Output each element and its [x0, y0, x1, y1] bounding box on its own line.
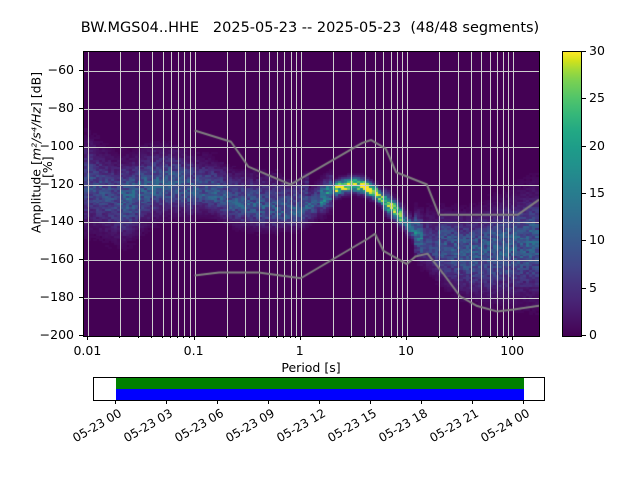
x-tick-minor	[283, 336, 284, 338]
y-tick-label: −200	[0, 327, 74, 342]
colorbar-tick-label: 15	[589, 185, 605, 200]
x-tick-minor	[119, 336, 120, 338]
x-tick-minor	[162, 336, 163, 338]
x-tick-mark	[406, 336, 407, 340]
timeline-tick-mark	[523, 400, 524, 404]
x-axis-label: Period [s]	[83, 360, 539, 375]
page-title: BW.MGS04..HHE 2025-05-23 -- 2025-05-23 (…	[0, 20, 620, 36]
colorbar-tick-label: 25	[589, 90, 605, 105]
timeline-tick-mark	[370, 400, 371, 404]
y-tick-mark	[79, 297, 83, 298]
y-tick-mark	[79, 184, 83, 185]
x-tick-minor	[290, 336, 291, 338]
timeline-tick-label: 05-24 00	[471, 406, 532, 449]
timeline-tick-label: 05-23 18	[369, 406, 430, 449]
x-tick-label: 0.01	[47, 343, 127, 358]
timeline-tick-mark	[268, 400, 269, 404]
timeline-tick-mark	[115, 400, 116, 404]
timeline-tick-label: 05-23 12	[267, 406, 328, 449]
x-tick-minor	[438, 336, 439, 338]
colorbar-gradient	[563, 52, 581, 336]
x-tick-minor	[138, 336, 139, 338]
ppsd-heatmap	[84, 52, 539, 336]
x-tick-minor	[507, 336, 508, 338]
y-tick-mark	[79, 70, 83, 71]
timeline-axes[interactable]	[93, 377, 545, 401]
colorbar-tick-mark	[582, 240, 586, 241]
x-tick-minor	[401, 336, 402, 338]
colorbar-tick-mark	[582, 98, 586, 99]
colorbar-tick-label: 10	[589, 232, 605, 247]
timeline-tick-label: 05-23 03	[114, 406, 175, 449]
x-tick-mark	[87, 336, 88, 340]
x-tick-minor	[332, 336, 333, 338]
x-tick-mark	[194, 336, 195, 340]
timeline-band-data	[116, 389, 524, 400]
colorbar-tick-label: 5	[589, 280, 597, 295]
y-axis-label: Amplitude [m²/s⁴/Hz] [dB]	[29, 3, 44, 303]
x-tick-minor	[258, 336, 259, 338]
colorbar-tick-label: 0	[589, 327, 597, 342]
x-tick-minor	[151, 336, 152, 338]
x-tick-minor	[502, 336, 503, 338]
x-tick-label: 10	[366, 343, 446, 358]
colorbar-tick-mark	[582, 193, 586, 194]
x-tick-minor	[350, 336, 351, 338]
x-tick-minor	[496, 336, 497, 338]
ppsd-plot-area[interactable]	[83, 51, 540, 337]
x-tick-label: 0.1	[154, 343, 234, 358]
x-tick-mark	[300, 336, 301, 340]
x-tick-minor	[390, 336, 391, 338]
timeline-tick-label: 05-23 00	[63, 406, 124, 449]
x-tick-minor	[295, 336, 296, 338]
y-tick-mark	[79, 108, 83, 109]
x-tick-minor	[489, 336, 490, 338]
x-tick-minor	[374, 336, 375, 338]
x-tick-minor	[470, 336, 471, 338]
timeline-tick-mark	[472, 400, 473, 404]
x-tick-minor	[189, 336, 190, 338]
x-tick-mark	[512, 336, 513, 340]
timeline-tick-label: 05-23 09	[216, 406, 277, 449]
timeline-bands	[116, 378, 524, 400]
x-tick-minor	[183, 336, 184, 338]
x-tick-minor	[480, 336, 481, 338]
x-tick-label: 1	[260, 343, 340, 358]
x-tick-minor	[170, 336, 171, 338]
timeline-tick-mark	[421, 400, 422, 404]
timeline-tick-mark	[217, 400, 218, 404]
x-tick-minor	[276, 336, 277, 338]
colorbar-tick-mark	[582, 146, 586, 147]
x-tick-minor	[364, 336, 365, 338]
y-tick-mark	[79, 146, 83, 147]
colorbar-tick-label: 20	[589, 138, 605, 153]
x-tick-minor	[268, 336, 269, 338]
colorbar-tick-mark	[582, 288, 586, 289]
x-tick-label: 100	[472, 343, 552, 358]
y-tick-mark	[79, 259, 83, 260]
timeline-tick-mark	[319, 400, 320, 404]
noise-model-lines	[84, 52, 539, 336]
colorbar-tick-mark	[582, 335, 586, 336]
x-tick-minor	[226, 336, 227, 338]
x-tick-minor	[177, 336, 178, 338]
x-tick-minor	[382, 336, 383, 338]
timeline-tick-label: 05-23 21	[420, 406, 481, 449]
timeline-band-used	[116, 378, 524, 389]
colorbar-tick-label: 30	[589, 43, 605, 58]
x-tick-minor	[457, 336, 458, 338]
colorbar[interactable]	[562, 51, 582, 337]
y-tick-mark	[79, 221, 83, 222]
colorbar-label: [%]	[40, 156, 55, 178]
x-tick-minor	[396, 336, 397, 338]
x-tick-minor	[244, 336, 245, 338]
timeline-tick-label: 05-23 15	[318, 406, 379, 449]
y-tick-mark	[79, 335, 83, 336]
timeline-tick-mark	[166, 400, 167, 404]
colorbar-tick-mark	[582, 51, 586, 52]
timeline-tick-label: 05-23 06	[165, 406, 226, 449]
